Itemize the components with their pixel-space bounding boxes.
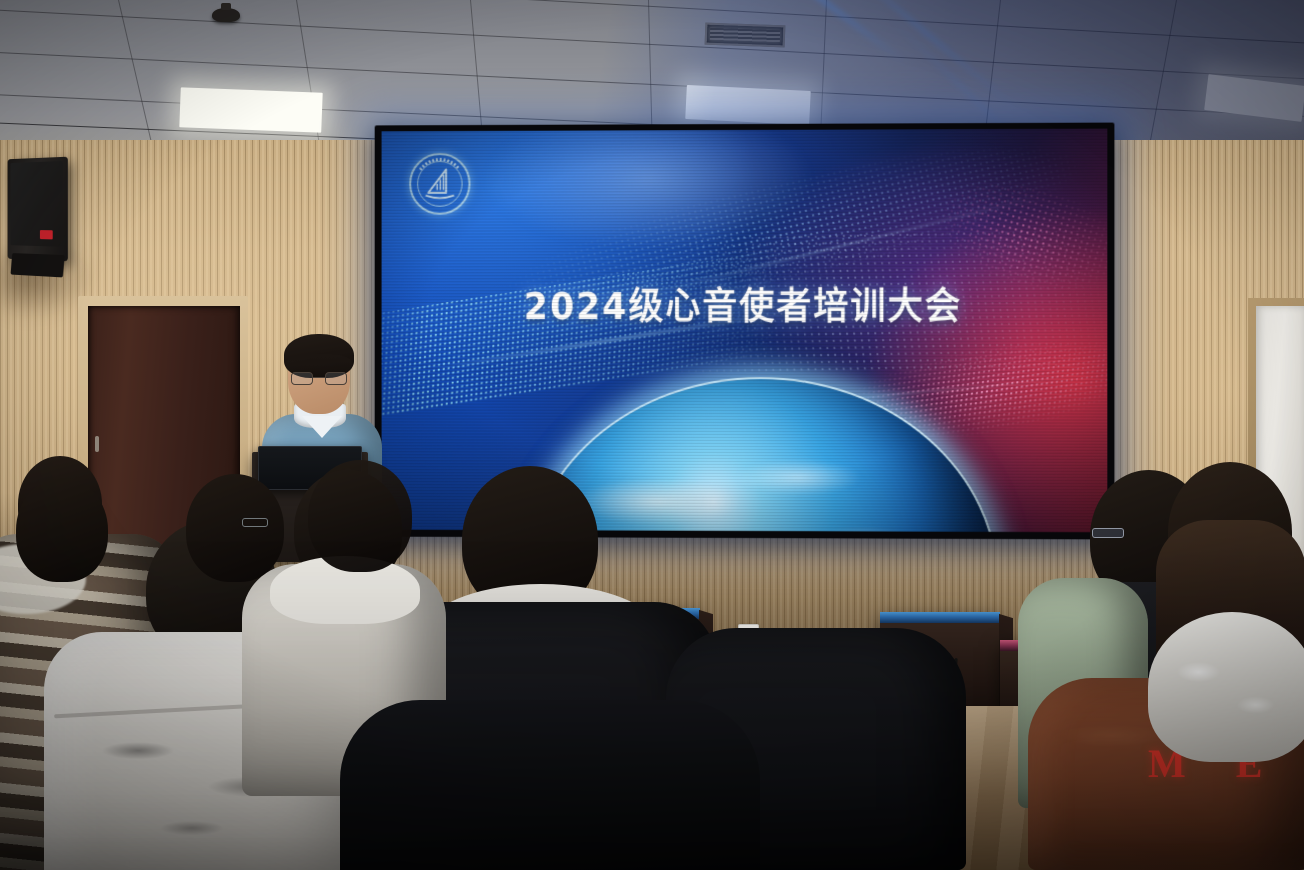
ceiling-panel-light-left [179, 87, 322, 132]
door-handle-icon[interactable] [95, 436, 99, 452]
ceiling-speaker-icon [212, 8, 240, 22]
emblem-arc-text [409, 153, 470, 215]
fur-hood-lining [1148, 612, 1304, 762]
speaker-brand-badge [40, 230, 53, 239]
glasses-icon [1092, 528, 1124, 538]
glasses-icon [242, 518, 268, 527]
desk-surface-reflection [880, 612, 1000, 623]
ceiling-panel-light-right [1204, 74, 1304, 122]
air-vent [705, 23, 786, 48]
ceiling-panel-light-mid [685, 85, 811, 125]
attendee-white-fur-hood [1148, 612, 1304, 792]
attendee-head [308, 460, 412, 572]
wall-mounted-speaker [8, 157, 68, 262]
conference-room-photo: 2024级心音使者培训大会 [0, 0, 1304, 870]
speaker-mount-bracket [10, 253, 64, 277]
slide-title: 2024级心音使者培训大会 [382, 276, 1108, 330]
university-emblem-sail-icon [409, 153, 470, 215]
audience-foreground-mass [340, 700, 760, 870]
attendee-torso [340, 700, 760, 870]
glasses-icon [291, 372, 347, 385]
